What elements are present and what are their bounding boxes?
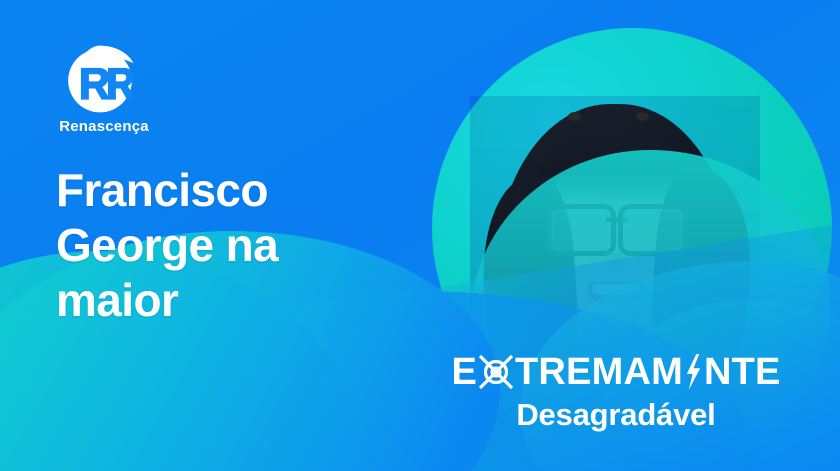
eye-left bbox=[568, 112, 581, 121]
lightning-bolt-icon bbox=[684, 352, 703, 392]
eye-right bbox=[636, 112, 649, 121]
show-title: E TREMAM NTE bbox=[436, 352, 796, 392]
renascenca-logo-icon bbox=[60, 44, 140, 114]
show-branding: E TREMAM NTE Desagradável bbox=[436, 352, 796, 430]
show-title-part-1: E bbox=[451, 353, 477, 391]
show-title-part-2: TREMAM bbox=[515, 353, 683, 391]
podcast-cover-card: Renascença Francisco George na maior E T… bbox=[0, 0, 840, 471]
renascenca-logo[interactable]: Renascença bbox=[52, 44, 156, 135]
show-title-part-3: NTE bbox=[704, 353, 781, 391]
show-subtitle: Desagradável bbox=[436, 399, 796, 430]
page-title: Francisco George na maior bbox=[56, 163, 386, 328]
renascenca-wordmark: Renascença bbox=[52, 118, 156, 135]
target-crosshair-icon bbox=[476, 352, 516, 392]
